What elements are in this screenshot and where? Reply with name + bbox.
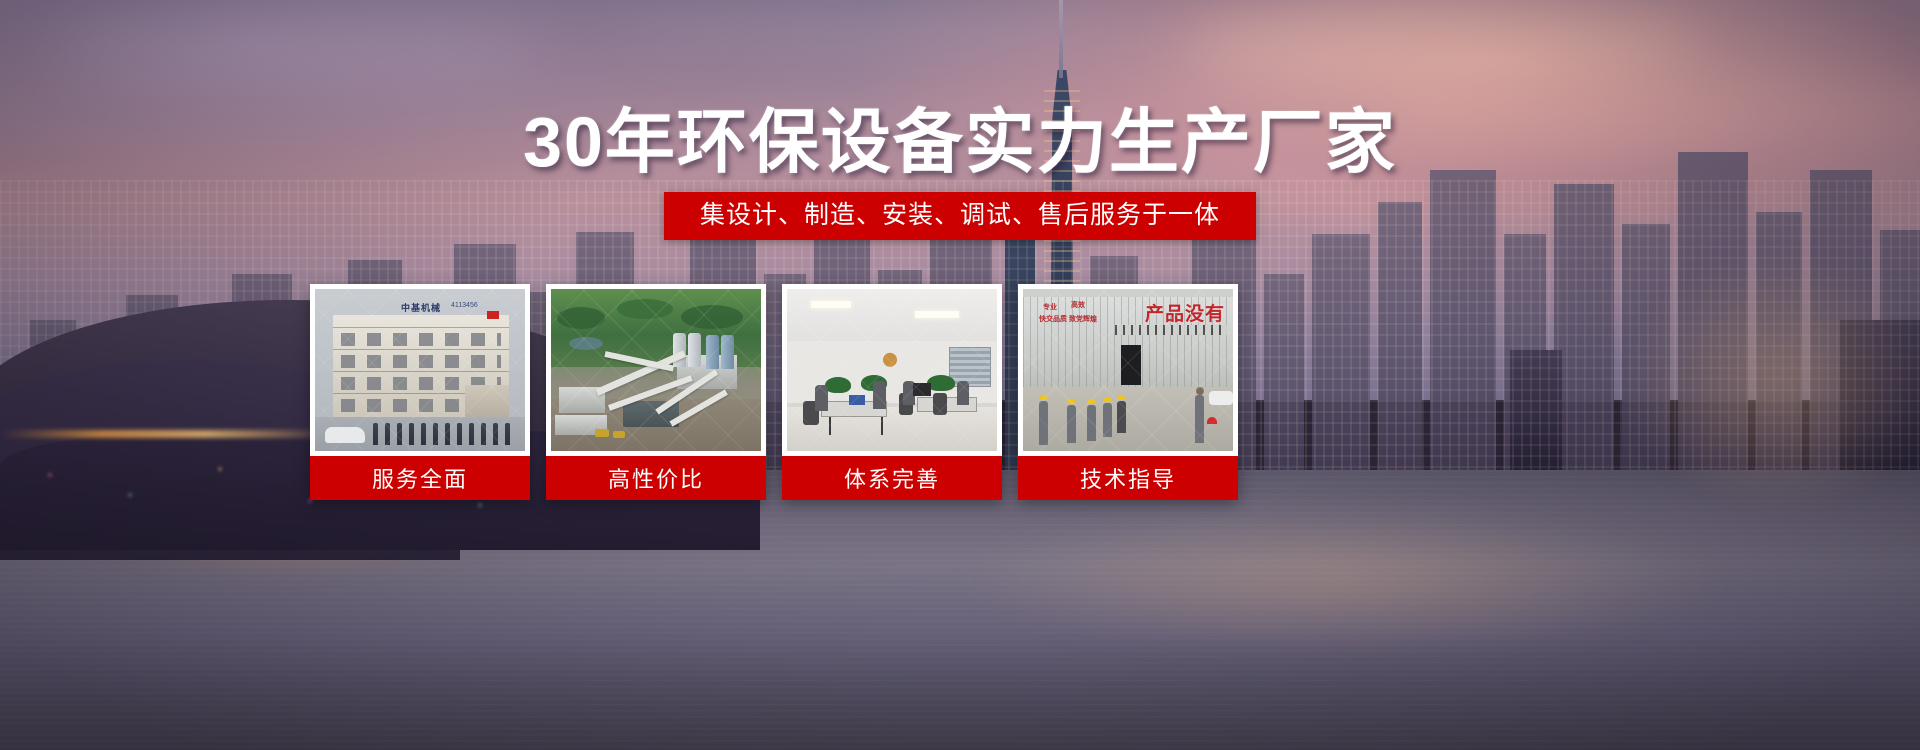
banner-subtitle-wrap: 集设计、制造、安装、调试、售后服务于一体 (0, 192, 1920, 240)
potted-plant (927, 375, 955, 391)
window-row (341, 355, 501, 368)
office-worker (957, 381, 969, 405)
ceiling (787, 289, 997, 341)
silo (721, 335, 734, 369)
safety-helmet (1067, 399, 1076, 404)
staff-person (457, 423, 462, 445)
supervisor-head (1196, 387, 1204, 395)
facade-line (333, 327, 509, 328)
office-interior-photo (787, 289, 997, 451)
entrance-canopy (465, 385, 509, 419)
ceiling-light (811, 301, 851, 308)
window-row (341, 333, 501, 346)
worker (1039, 401, 1048, 445)
forest-patch (617, 299, 673, 319)
white-van (1209, 391, 1233, 405)
company-sign-number: 4113456 (451, 302, 478, 309)
desk-leg (829, 417, 831, 435)
feature-card-system[interactable]: 体系完善 (782, 284, 1002, 500)
wall-vent-strip (1115, 325, 1227, 335)
wall-logo (875, 351, 905, 373)
desk-leg (881, 417, 883, 435)
safety-helmet (1117, 395, 1126, 400)
silo (706, 335, 719, 369)
factory-yard-training-photo: 产品没有 专业 高效 快交品质 致党辉煌 (1023, 289, 1233, 451)
staff-person (421, 423, 426, 445)
worker (1087, 405, 1096, 441)
banner-subtitle: 集设计、制造、安装、调试、售后服务于一体 (664, 192, 1256, 240)
forest-patch (557, 307, 605, 329)
excavator (613, 431, 625, 438)
safety-helmet (1039, 395, 1048, 400)
feature-card-guidance[interactable]: 产品没有 专业 高效 快交品质 致党辉煌 (1018, 284, 1238, 500)
wall-slogan-large: 产品没有 (1145, 299, 1225, 326)
feature-card-label: 技术指导 (1018, 456, 1238, 500)
wall-slogan-small-4: 致党辉煌 (1069, 315, 1097, 324)
wall-slogan-small-3: 快交品质 (1039, 315, 1067, 324)
staff-person (409, 423, 414, 445)
silo (673, 333, 686, 367)
safety-helmet (1103, 397, 1112, 402)
worker (1067, 405, 1076, 443)
staff-person (385, 423, 390, 445)
flag (487, 311, 499, 319)
feature-card-row: 中基机械 4113456 (310, 284, 1238, 500)
supervisor (1195, 395, 1204, 443)
feature-card-label: 体系完善 (782, 456, 1002, 500)
staff-person (373, 423, 378, 445)
worker (1117, 401, 1126, 433)
forest-patch (681, 305, 743, 329)
hero-banner: 30年环保设备实力生产厂家 集设计、制造、安装、调试、售后服务于一体 中基机械 … (0, 0, 1920, 750)
staff-person (493, 423, 498, 445)
office-worker (873, 381, 886, 409)
wall-slogan-small-2: 高效 (1071, 301, 1085, 310)
banner-headline: 30年环保设备实力生产厂家 (0, 100, 1920, 184)
wall-slogan-small-1: 专业 (1043, 303, 1057, 312)
safety-helmet (1087, 399, 1096, 404)
staff-person (481, 423, 486, 445)
staff-person (469, 423, 474, 445)
office-window (949, 347, 991, 387)
feature-card-label: 高性价比 (546, 456, 766, 500)
ceiling-light (915, 311, 959, 318)
staff-person (505, 423, 510, 445)
laptop (849, 395, 865, 405)
staff-person (433, 423, 438, 445)
office-chair (933, 393, 947, 415)
office-worker (815, 385, 828, 411)
aerial-industrial-plant-photo (551, 289, 761, 451)
staff-person (397, 423, 402, 445)
potted-plant (825, 377, 851, 393)
excavator (595, 429, 609, 437)
facade-line (333, 371, 509, 372)
company-office-building-photo: 中基机械 4113456 (315, 289, 525, 451)
factory-door (1121, 345, 1141, 385)
feature-card-value[interactable]: 高性价比 (546, 284, 766, 500)
parked-car (325, 427, 365, 443)
red-helmet-held (1207, 417, 1217, 424)
feature-card-service[interactable]: 中基机械 4113456 (310, 284, 530, 500)
pond (569, 337, 603, 350)
facade-line (333, 349, 509, 350)
monitor (913, 383, 931, 396)
silo (688, 333, 701, 367)
worker (1103, 403, 1112, 437)
staff-person (445, 423, 450, 445)
feature-card-label: 服务全面 (310, 456, 530, 500)
